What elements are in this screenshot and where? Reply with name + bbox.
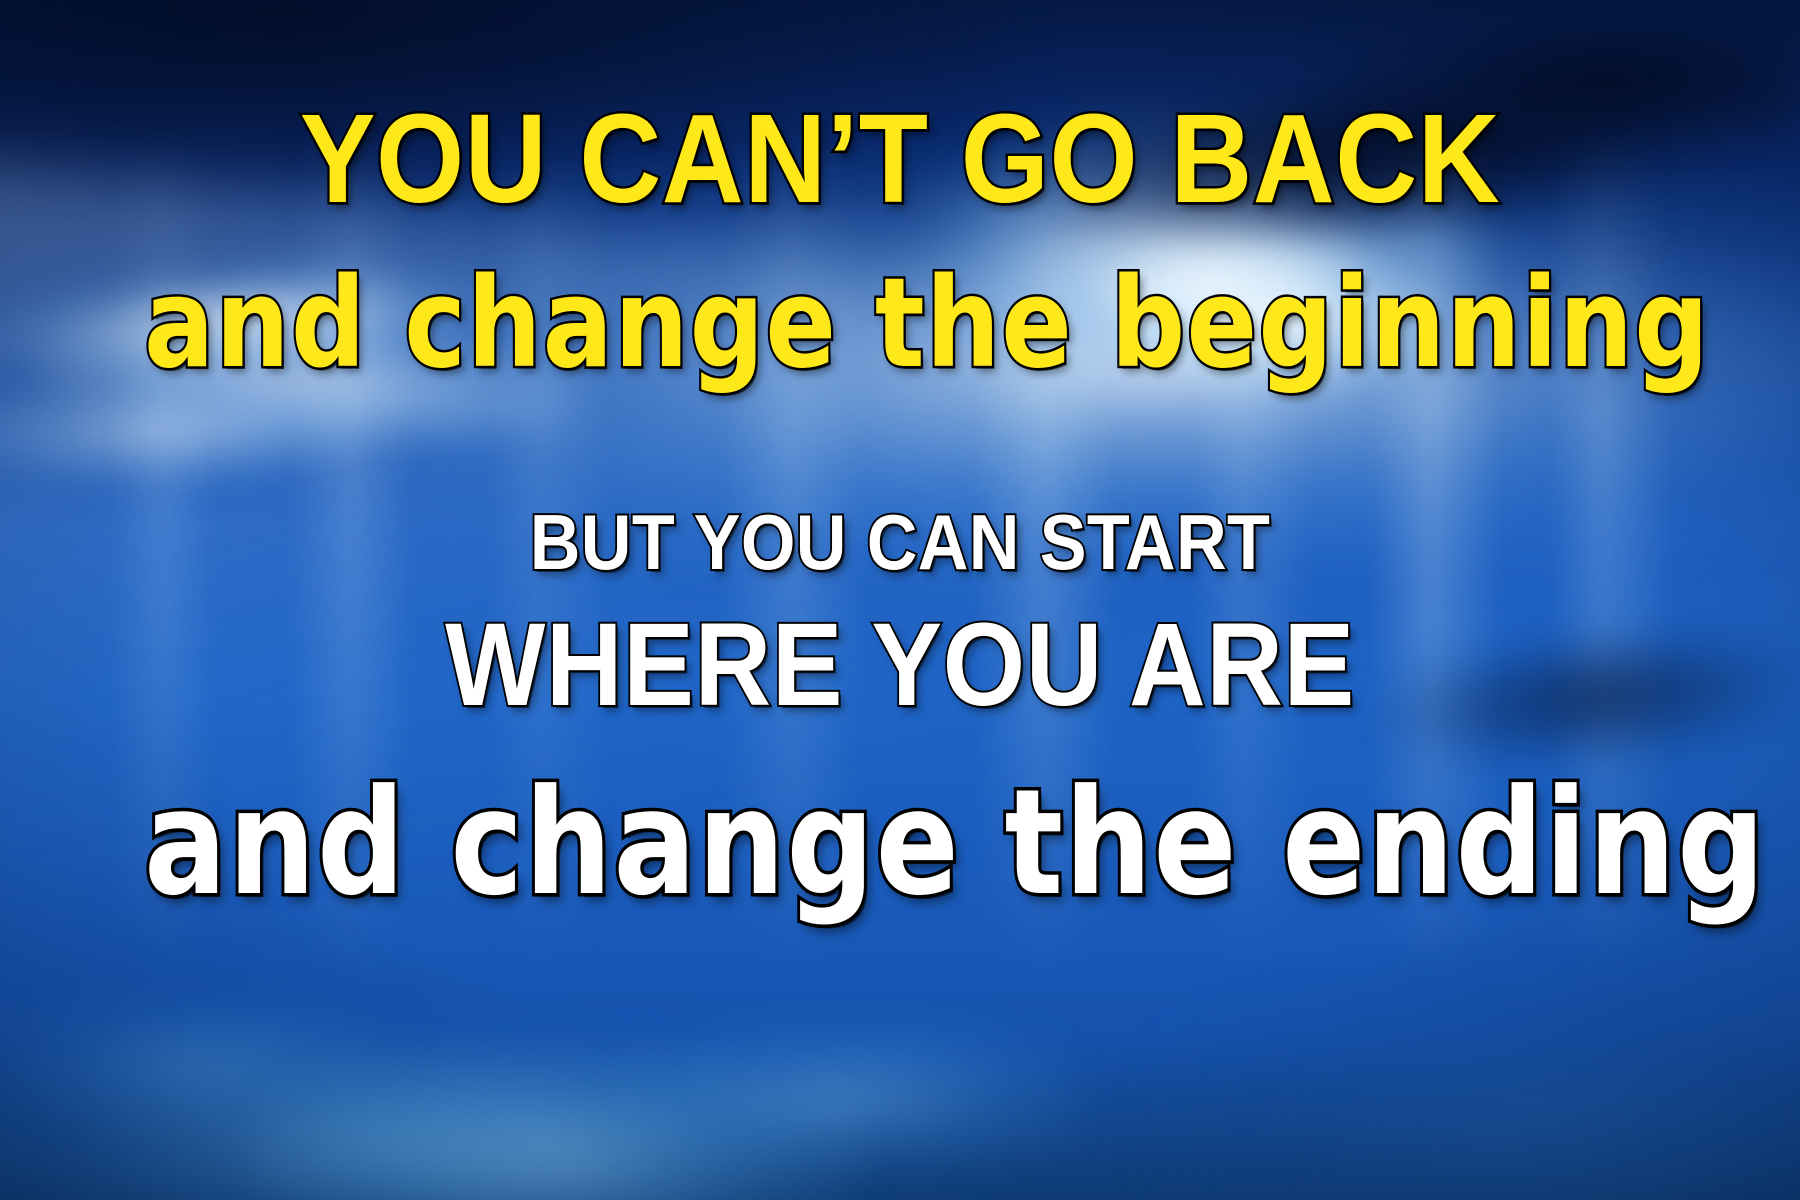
quote-line-2: and change the beginning	[144, 262, 1656, 386]
quote-line-1: YOU CAN’T GO BACK	[90, 96, 1710, 222]
quote-line-4: WHERE YOU ARE	[90, 606, 1710, 724]
quote-text-block: YOU CAN’T GO BACK and change the beginni…	[0, 0, 1800, 1200]
quote-line-3: BUT YOU CAN START	[90, 503, 1710, 581]
quote-line-5: and change the ending	[144, 770, 1656, 916]
quote-poster: YOU CAN’T GO BACK and change the beginni…	[0, 0, 1800, 1200]
